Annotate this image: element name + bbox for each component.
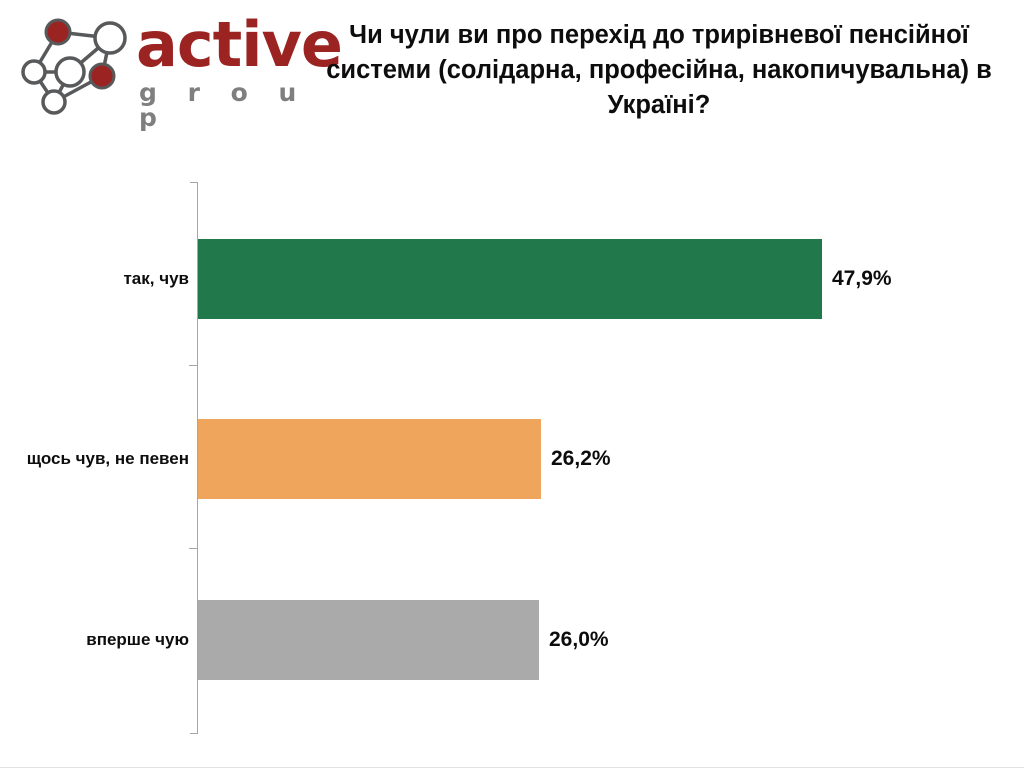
axis-tick-2 [189,548,198,549]
table-row: так, чув 47,9% [0,239,1024,319]
axis-tick-1 [189,365,198,366]
table-row: вперше чую 26,0% [0,600,1024,680]
slide: active g r o u p Чи чули ви про перехід … [0,0,1024,768]
brand-subname: g r o u p [139,80,308,130]
bar-segment-0[interactable] [198,239,822,319]
bar-segment-2[interactable] [198,600,539,680]
axis-cap-bottom [190,733,198,734]
network-graph-icon [14,10,134,118]
bar-category-label-2: вперше чую [86,630,189,650]
table-row: щось чув, не певен 26,2% [0,419,1024,499]
bar-value-label-1: 26,2% [551,447,611,471]
slide-header: active g r o u p Чи чули ви про перехід … [0,0,1024,128]
bar-value-label-0: 47,9% [832,267,892,291]
bar-segment-1[interactable] [198,419,541,499]
brand-logo: active g r o u p [8,6,308,118]
chart-title: Чи чули ви про перехід до трирівневої пе… [300,18,1018,123]
bar-chart: так, чув 47,9% щось чув, не певен 26,2% … [0,128,1024,768]
axis-cap-top [190,182,198,183]
bar-category-label-0: так, чув [123,269,189,289]
bar-value-label-2: 26,0% [549,628,609,652]
bar-category-label-1: щось чув, не певен [27,449,189,469]
